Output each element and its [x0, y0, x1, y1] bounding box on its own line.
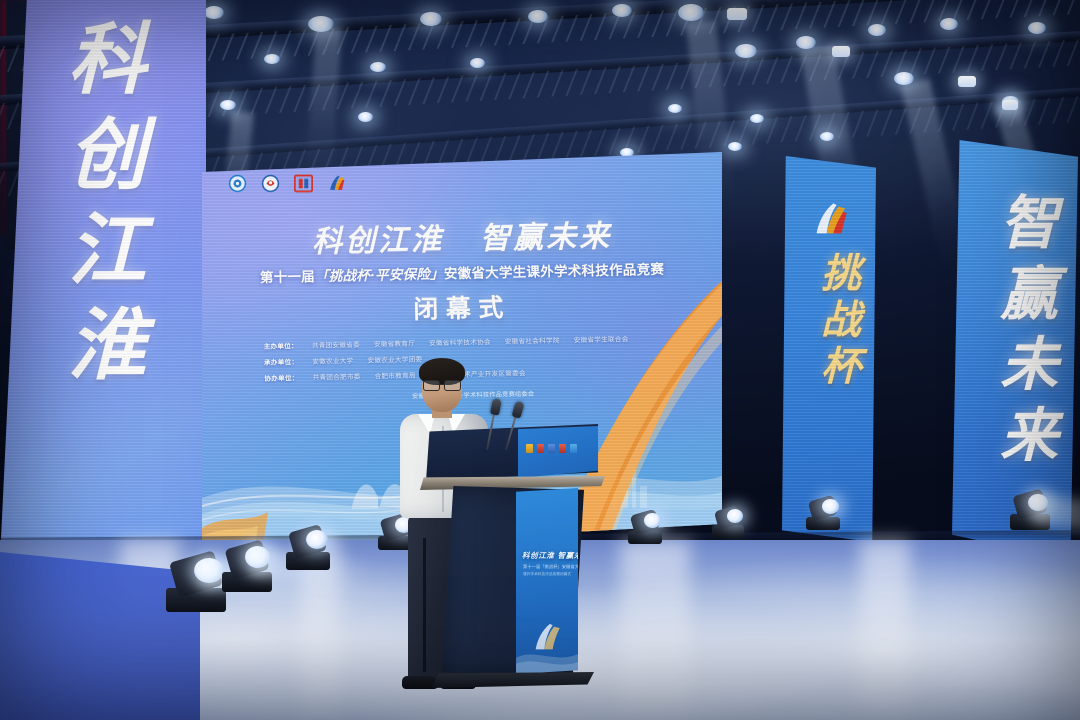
- challenge-cup-sail-icon: [809, 200, 851, 240]
- subtitle-prefix: 第十一届: [260, 269, 315, 285]
- organizer-item: 安徽省学生联合会: [574, 333, 629, 344]
- moving-head-light: [712, 508, 744, 538]
- overhead-lamp-icon: [868, 24, 886, 36]
- organizer-logo-row: [228, 174, 346, 193]
- speaking-podium: 科创江淮 智赢未来 第十一届「挑战杯」安徽省大学生 课外学术科技作品竞赛闭幕式: [420, 424, 605, 694]
- youth-league-emblem-icon: [228, 174, 247, 193]
- overhead-lamp-icon: [420, 12, 442, 26]
- overhead-lamp-icon: [678, 4, 704, 21]
- overhead-lamp-icon: [612, 4, 632, 17]
- organizer-row: 主办单位： 共青团安徽省委 安徽省教育厅 安徽省科学技术协会 安徽省社会科学院 …: [264, 333, 629, 351]
- podium-base: [432, 672, 594, 688]
- organizer-label: 承办单位：: [264, 356, 298, 367]
- moving-head-light: [222, 544, 272, 592]
- screen-subtitle: 第十一届「挑战杯·平安保险」安徽省大学生课外学术科技作品竞赛: [202, 257, 722, 288]
- overhead-lamp-icon: [796, 36, 816, 49]
- overhead-lamp-icon: [832, 46, 850, 57]
- overhead-lamp-icon: [358, 112, 373, 122]
- podium-logo-icon: [548, 444, 555, 453]
- podium-panel-title: 科创江淮 智赢未来: [522, 550, 578, 561]
- overhead-lamp-icon: [264, 54, 280, 64]
- overhead-lamp-icon: [735, 44, 757, 58]
- banner-mid-text: 挑战杯: [808, 252, 866, 391]
- overhead-lamp-icon: [728, 142, 742, 151]
- podium-panel-subtitle-2: 课外学术科技作品竞赛闭幕式: [523, 572, 571, 577]
- overhead-lamp-icon: [220, 100, 236, 110]
- moving-head-light: [166, 556, 226, 612]
- education-department-emblem-icon: [294, 174, 313, 193]
- podium-logo-icon: [559, 444, 566, 453]
- subtitle-quoted: 「挑战杯·平安保险」: [315, 266, 444, 285]
- overhead-lamp-icon: [820, 132, 834, 141]
- challenge-cup-sail-icon: [327, 174, 346, 193]
- subtitle-suffix: 安徽省大学生课外学术科技作品竞赛: [444, 262, 665, 282]
- overhead-lamp-icon: [204, 6, 224, 19]
- podium-logo-strip: [526, 444, 577, 453]
- slogan-right: 智赢未来: [480, 219, 613, 257]
- screen-event-title: 闭幕式: [202, 284, 722, 331]
- overhead-lamp-icon: [308, 16, 334, 32]
- podium-front-panel: 科创江淮 智赢未来 第十一届「挑战杯」安徽省大学生 课外学术科技作品竞赛闭幕式: [516, 488, 578, 674]
- student-federation-emblem-icon: [261, 174, 280, 193]
- organizer-label: 协办单位：: [264, 372, 298, 383]
- moving-head-light: [1010, 492, 1050, 530]
- podium-wave-graphic: [516, 640, 578, 674]
- overhead-lamp-icon: [1002, 100, 1018, 110]
- organizer-item: 安徽省科学技术协会: [429, 336, 491, 347]
- overhead-lamp-icon: [370, 62, 386, 72]
- banner-left-text: 科创江淮: [44, 18, 156, 399]
- overhead-lamp-icon: [470, 58, 485, 68]
- organizer-item: 共青团合肥市委: [312, 371, 360, 382]
- podium-logo-icon: [570, 444, 577, 453]
- screen-slogan: 科创江淮智赢未来: [202, 209, 722, 263]
- moving-head-light: [286, 528, 330, 570]
- overhead-lamp-icon: [940, 18, 958, 30]
- podium-panel-subtitle: 第十一届「挑战杯」安徽省大学生: [523, 564, 578, 570]
- slogan-left: 科创江淮: [312, 222, 445, 260]
- glasses-icon: [423, 380, 461, 390]
- led-banner-challenge-cup: 挑战杯: [782, 156, 876, 542]
- podium-logo-icon: [526, 444, 533, 453]
- organizer-item: 安徽省社会科学院: [505, 335, 560, 346]
- organizer-item: 共青团安徽省委: [312, 339, 360, 350]
- banner-right-text: 智赢未来: [982, 192, 1066, 475]
- overhead-lamp-icon: [750, 114, 764, 123]
- organizer-item: 安徽农业大学: [312, 355, 353, 366]
- organizer-item: 安徽省教育厅: [374, 338, 415, 349]
- overhead-lamp-icon: [528, 10, 548, 23]
- organizer-label: 主办单位：: [264, 340, 298, 351]
- overhead-lamp-icon: [958, 76, 976, 87]
- screen-key-visual: 科创江淮智赢未来 第十一届「挑战杯·平安保险」安徽省大学生课外学术科技作品竞赛 …: [202, 214, 722, 325]
- moving-head-light: [806, 498, 840, 530]
- podium-logo-icon: [537, 444, 544, 453]
- overhead-lamp-icon: [894, 72, 914, 85]
- moving-head-light: [628, 512, 662, 544]
- overhead-lamp-icon: [1028, 22, 1046, 34]
- overhead-lamp-icon: [727, 8, 747, 20]
- led-banner-left: 科创江淮: [0, 0, 206, 560]
- stage-scene: 科创江淮: [0, 0, 1080, 720]
- overhead-lamp-icon: [668, 104, 682, 113]
